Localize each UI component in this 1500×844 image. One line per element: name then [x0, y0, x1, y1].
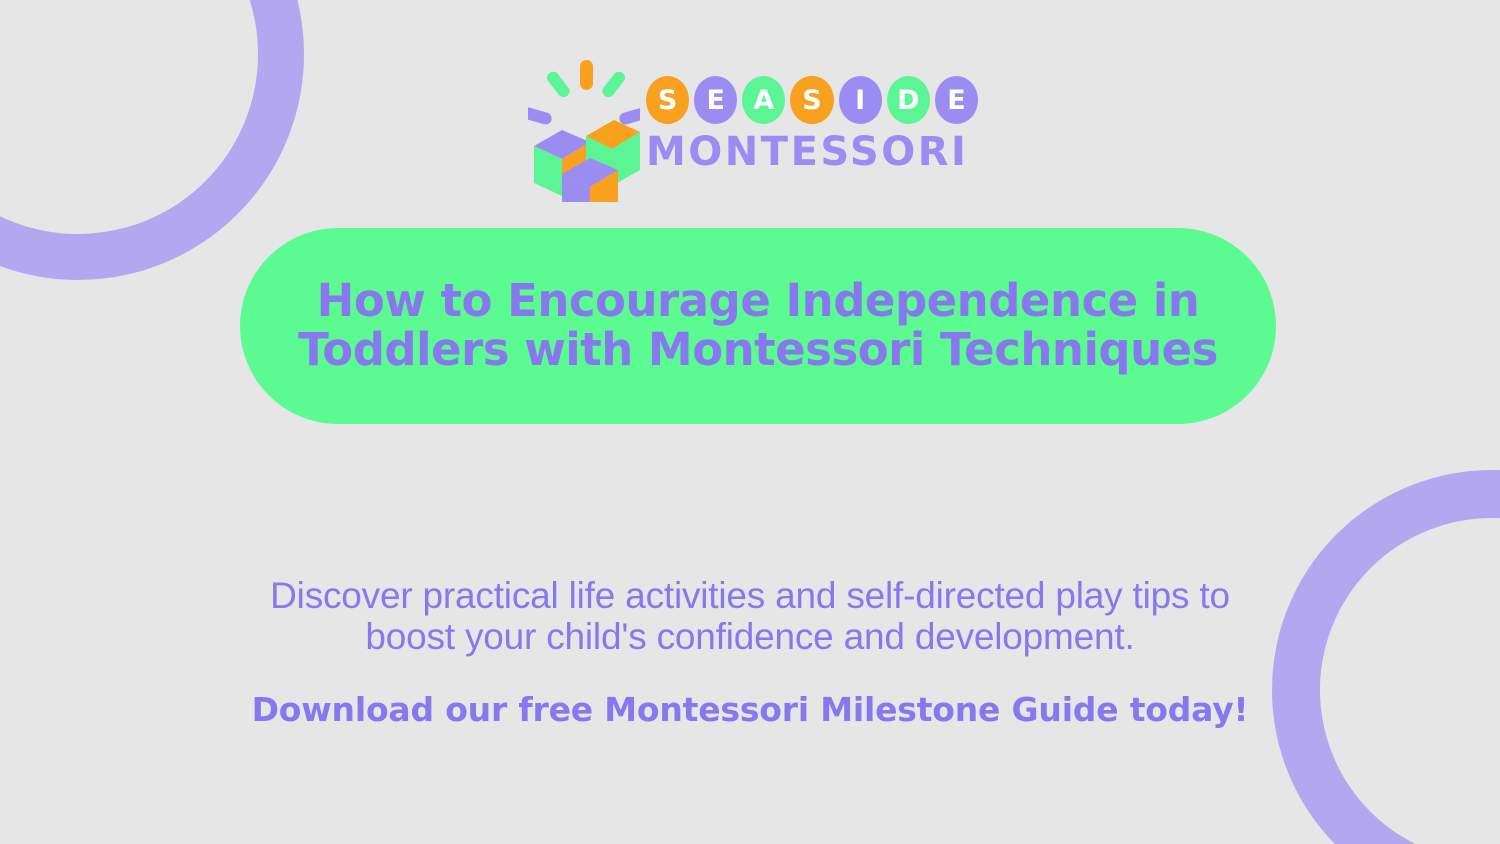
bead-letter-e-1: E	[694, 76, 737, 124]
seaside-bead-row: S E A S I D E	[646, 76, 978, 124]
page-title-line-2: Toddlers with Montessori Techniques	[298, 326, 1218, 375]
subheading-line-1: Discover practical life activities and s…	[110, 576, 1390, 617]
page-title: How to Encourage Independence in Toddler…	[298, 277, 1218, 374]
page-title-line-1: How to Encourage Independence in	[298, 277, 1218, 326]
bead-letter-i: I	[839, 76, 882, 124]
brand-name-montessori: MONTESSORI	[646, 132, 978, 172]
headline-banner: How to Encourage Independence in Toddler…	[240, 228, 1276, 424]
bead-letter-e-2: E	[935, 76, 978, 124]
bead-letter-a: A	[742, 76, 785, 124]
subheading-line-2: boost your child's confidence and develo…	[110, 617, 1390, 658]
call-to-action-text: Download our free Montessori Milestone G…	[110, 692, 1390, 728]
promo-card-canvas: S E A S I D E MONTESSORI How to Encourag…	[0, 0, 1500, 844]
bead-letter-s-1: S	[646, 76, 689, 124]
subheading-text: Discover practical life activities and s…	[110, 576, 1390, 657]
sparkle-rays	[528, 60, 640, 126]
brand-logo: S E A S I D E MONTESSORI	[528, 56, 978, 202]
bead-letter-s-2: S	[790, 76, 833, 124]
brand-wordmark: S E A S I D E MONTESSORI	[646, 76, 978, 196]
bead-letter-d: D	[887, 76, 930, 124]
top-left-ring-decoration	[0, 0, 304, 280]
building-blocks-with-sparkle-icon	[528, 56, 640, 202]
